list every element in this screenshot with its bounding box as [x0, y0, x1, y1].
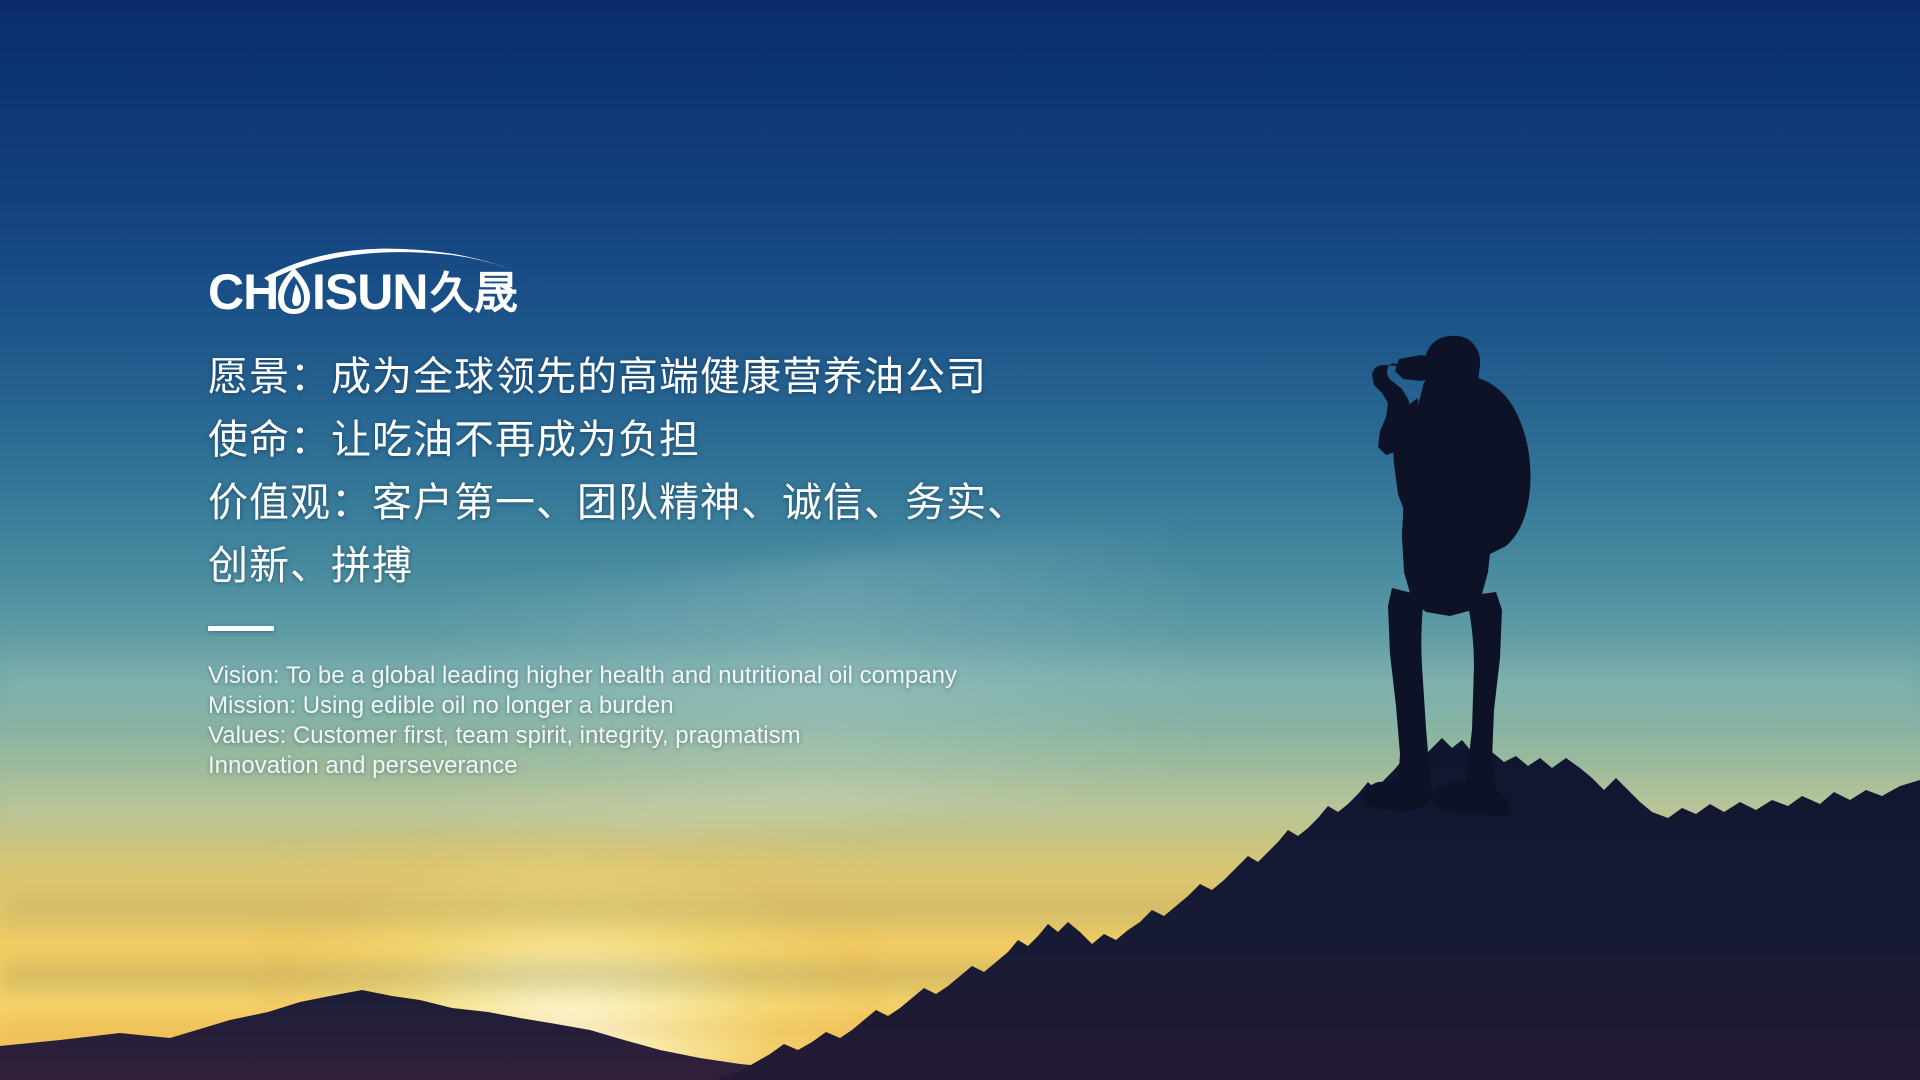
mission-line-cn: 使命：让吃油不再成为负担: [208, 409, 1108, 472]
vision-line-cn: 愿景：成为全球领先的高端健康营养油公司: [208, 346, 1108, 409]
logo-wordmark-ch: CH: [208, 264, 278, 320]
values-line-cn: 价值观：客户第一、团队精神、诚信、务实、: [208, 472, 1108, 535]
water-droplet-icon: [278, 268, 310, 314]
values-line-en: Values: Customer first, team spirit, int…: [208, 721, 1108, 751]
mission-line-en: Mission: Using edible oil no longer a bu…: [208, 691, 1108, 721]
divider-rule: [208, 626, 274, 631]
chinese-statements: 愿景：成为全球领先的高端健康营养油公司 使命：让吃油不再成为负担 价值观：客户第…: [208, 346, 1108, 598]
english-statements: Vision: To be a global leading higher he…: [208, 661, 1108, 781]
logo-wordmark-cn: 久晟: [430, 268, 518, 319]
cliff-silhouette: [714, 738, 1920, 1080]
vision-line-en: Vision: To be a global leading higher he…: [208, 661, 1108, 691]
content-block: CH ISUN 久晟 愿景：成为全球领先的高端健康营养油公司 使命：让吃油不再成…: [208, 248, 1108, 781]
values-line-cn-cont: 创新、拼搏: [208, 535, 1108, 598]
banner-canvas: CH ISUN 久晟 愿景：成为全球领先的高端健康营养油公司 使命：让吃油不再成…: [0, 0, 1920, 1080]
company-logo[interactable]: CH ISUN 久晟: [208, 248, 548, 320]
values-line-en-cont: Innovation and perseverance: [208, 751, 1108, 781]
logo-wordmark-isun: ISUN: [312, 264, 427, 320]
logo-artwork: CH ISUN 久晟: [208, 248, 548, 320]
